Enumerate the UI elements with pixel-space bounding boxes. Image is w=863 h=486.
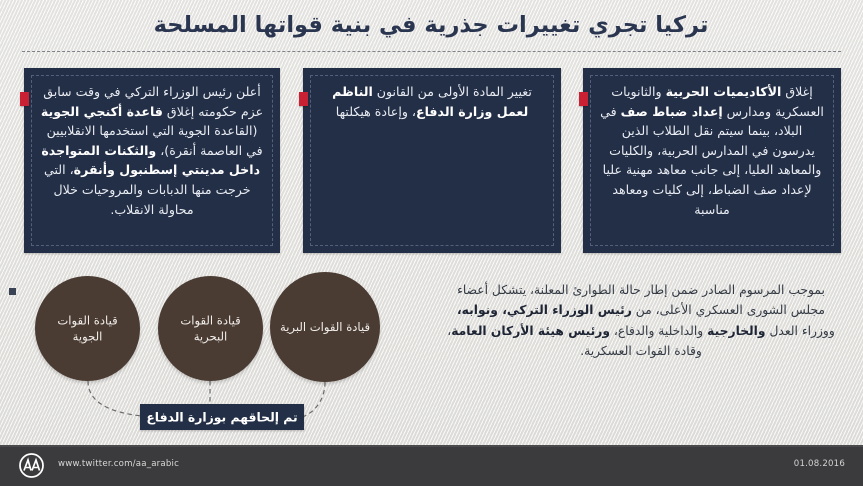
footer-top-divider bbox=[0, 445, 863, 447]
anadolu-agency-logo-icon bbox=[19, 453, 44, 478]
connector-land bbox=[302, 382, 325, 417]
footer: www.twitter.com/aa_arabic 01.08.2016 bbox=[0, 445, 863, 486]
footer-twitter-url[interactable]: www.twitter.com/aa_arabic bbox=[58, 459, 179, 469]
card-text: أعلن رئيس الوزراء التركي في وقت سابق عزم… bbox=[40, 82, 264, 219]
footer-date: 01.08.2016 bbox=[794, 459, 845, 469]
card-text: إغلاق الأكاديميات الحربية والثانويات الع… bbox=[599, 82, 825, 219]
circle-label: قيادة القوات البرية bbox=[276, 319, 374, 336]
card-text: تغيير المادة الأولى من القانون الناظم لع… bbox=[319, 82, 545, 121]
title-divider bbox=[22, 51, 841, 52]
info-card-announcement: أعلن رئيس الوزراء التركي في وقت سابق عزم… bbox=[24, 68, 280, 253]
circle-air-force-command: قيادة القوات الجوية bbox=[35, 276, 140, 381]
note-paragraph: بموجب المرسوم الصادر ضمن إطار حالة الطوا… bbox=[441, 280, 841, 362]
badge-attached-to-defense-ministry: تم إلحاقهم بوزارة الدفاع bbox=[140, 404, 304, 430]
note-bullet-icon bbox=[9, 288, 16, 295]
circle-land-force-command: قيادة القوات البرية bbox=[270, 272, 380, 382]
circle-label: قيادة القوات البحرية bbox=[164, 312, 257, 345]
circle-naval-force-command: قيادة القوات البحرية bbox=[158, 276, 263, 381]
card-accent-marker bbox=[579, 92, 588, 106]
info-card-law-amendment: تغيير المادة الأولى من القانون الناظم لع… bbox=[303, 68, 561, 253]
badge-label: تم إلحاقهم بوزارة الدفاع bbox=[140, 410, 304, 425]
card-accent-marker bbox=[20, 92, 29, 106]
header: تركيا تجري تغييرات جذرية في بنية قواتها … bbox=[0, 0, 863, 58]
card-accent-marker bbox=[299, 92, 308, 106]
connector-air bbox=[88, 381, 142, 416]
infographic-canvas: تركيا تجري تغييرات جذرية في بنية قواتها … bbox=[0, 0, 863, 486]
page-title: تركيا تجري تغييرات جذرية في بنية قواتها … bbox=[21, 8, 841, 42]
circle-label: قيادة القوات الجوية bbox=[41, 312, 134, 345]
info-card-academies: إغلاق الأكاديميات الحربية والثانويات الع… bbox=[583, 68, 841, 253]
